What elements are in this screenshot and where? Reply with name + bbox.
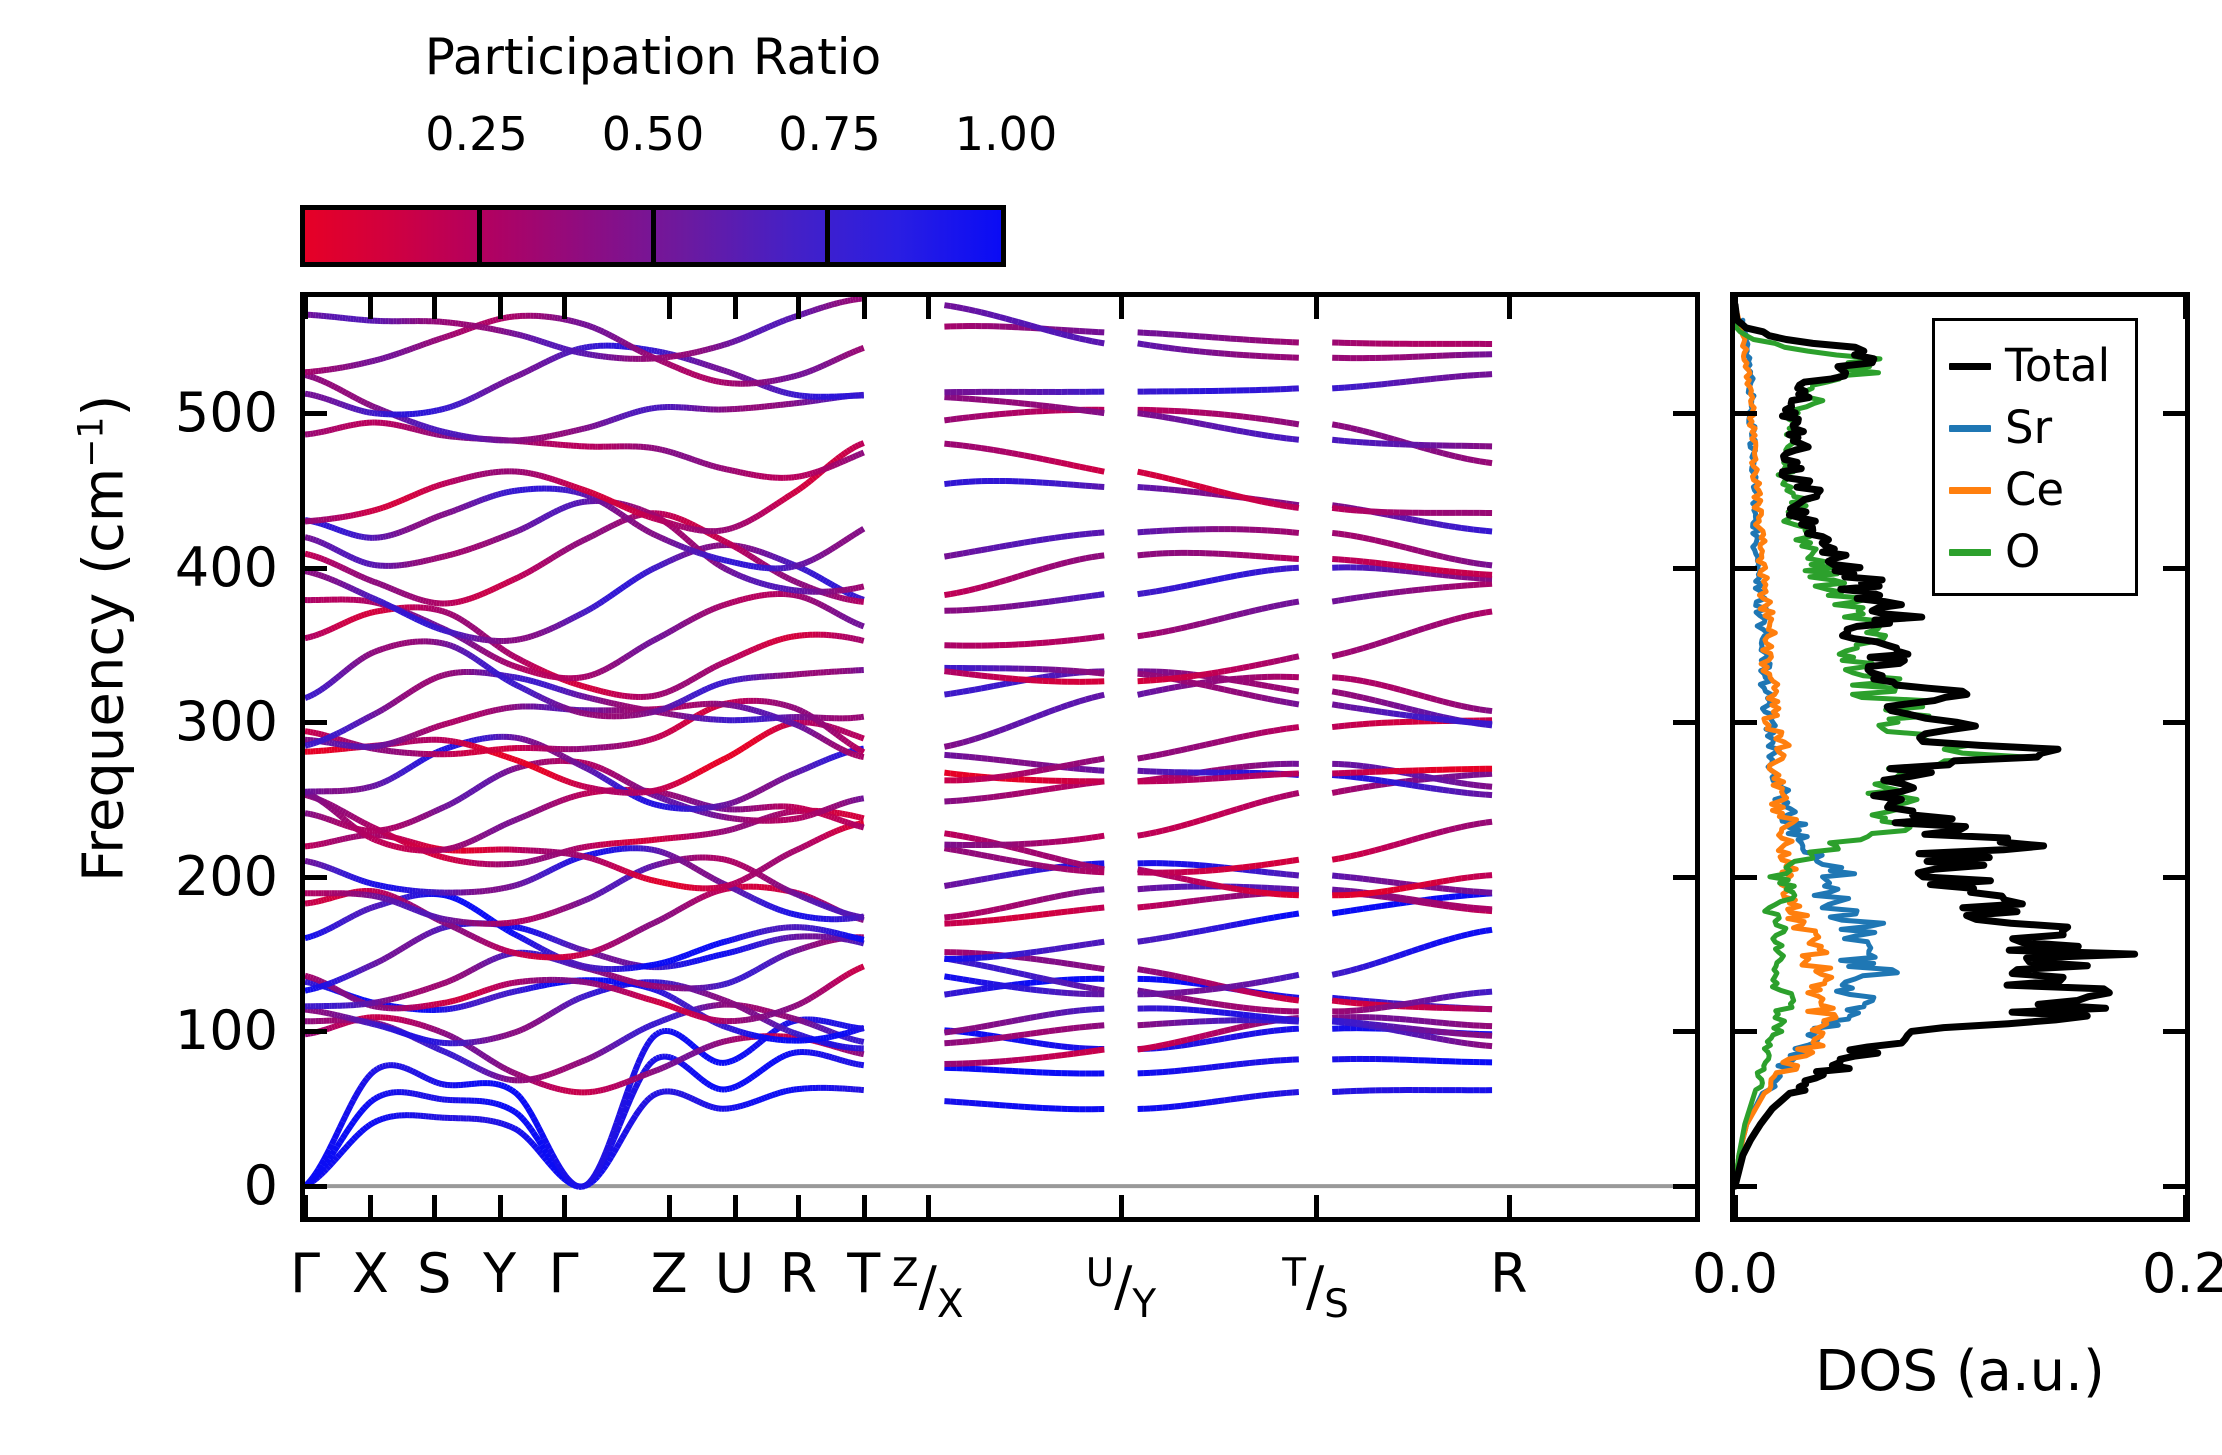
kpath-tick-mark bbox=[1119, 1195, 1124, 1217]
frequency-tick-400: 400 bbox=[175, 539, 278, 597]
frequency-tick-mark bbox=[1735, 1029, 1757, 1034]
dos-axis-tick-labels: 0.00.2 bbox=[1730, 1243, 2190, 1323]
kpath-tick-S: S bbox=[417, 1243, 451, 1305]
colorbar-tick-0.25: 0.25 bbox=[425, 108, 527, 160]
frequency-tick-mark bbox=[305, 1029, 327, 1034]
kpath-tick-Γ: Γ bbox=[290, 1243, 320, 1305]
frequency-tick-mark bbox=[2163, 411, 2185, 416]
kpath-tick-mark bbox=[1314, 1195, 1319, 1217]
frequency-tick-mark bbox=[1673, 411, 1695, 416]
frequency-tick-300: 300 bbox=[175, 693, 278, 751]
band-plot-area bbox=[305, 297, 1695, 1217]
frequency-tick-mark bbox=[305, 720, 327, 725]
figure-root: Participation Ratio 0.250.500.751.00 010… bbox=[0, 0, 2222, 1455]
frequency-tick-mark bbox=[1735, 411, 1757, 416]
band-curves-group bbox=[305, 298, 1492, 1186]
frequency-tick-mark bbox=[2163, 566, 2185, 571]
frequency-tick-500: 500 bbox=[175, 384, 278, 442]
colorbar-tick-0.50: 0.50 bbox=[602, 108, 704, 160]
frequency-tick-0: 0 bbox=[244, 1157, 278, 1215]
band-structure-curves bbox=[305, 297, 1695, 1217]
dos-tick-0.2: 0.2 bbox=[2142, 1243, 2222, 1305]
kpath-tick-U: U bbox=[715, 1243, 755, 1305]
kpath-tick-mark bbox=[562, 297, 567, 319]
frequency-tick-mark bbox=[1673, 1029, 1695, 1034]
ylabel-tail: ) bbox=[71, 395, 136, 417]
kpath-tick-mark bbox=[368, 1195, 373, 1217]
dos-tick-0.0: 0.0 bbox=[1692, 1243, 1778, 1305]
kpath-tick-mark bbox=[862, 1195, 867, 1217]
kpath-tick-mark bbox=[432, 297, 437, 319]
kpath-tick-mark bbox=[498, 1195, 503, 1217]
frequency-tick-mark bbox=[305, 875, 327, 880]
kpath-tick-mark bbox=[432, 1195, 437, 1217]
kpath-tick-mark bbox=[1507, 1195, 1512, 1217]
colorbar-tick-mark bbox=[477, 210, 482, 262]
legend-label: Ce bbox=[2005, 465, 2064, 515]
kpath-tick-labels: ΓXSYΓZURTZ/XU/YT/SR bbox=[300, 1243, 1700, 1333]
kpath-tick-Z-X: Z/X bbox=[892, 1243, 963, 1336]
kpath-tick-mark bbox=[303, 297, 308, 319]
dos-axis-label: DOS (a.u.) bbox=[1700, 1340, 2220, 1404]
kpath-tick-mark bbox=[667, 297, 672, 319]
kpath-tick-mark bbox=[733, 297, 738, 319]
legend-label: Sr bbox=[2005, 403, 2052, 453]
legend-label: Total bbox=[2005, 341, 2110, 391]
colorbar-tick-mark bbox=[651, 210, 656, 262]
colorbar bbox=[300, 205, 1006, 267]
frequency-axis-label: Frequency (cm−1) bbox=[60, 318, 137, 958]
kpath-tick-mark bbox=[303, 1195, 308, 1217]
dos-legend: TotalSrCeO bbox=[1932, 318, 2138, 596]
frequency-tick-mark bbox=[1735, 566, 1757, 571]
legend-label: O bbox=[2005, 527, 2040, 577]
kpath-tick-mark bbox=[562, 1195, 567, 1217]
kpath-tick-Γ: Γ bbox=[548, 1243, 578, 1305]
kpath-tick-mark bbox=[926, 1195, 931, 1217]
dos-tick-mark bbox=[1733, 297, 1738, 319]
frequency-tick-mark bbox=[2163, 1029, 2185, 1034]
frequency-tick-mark bbox=[1673, 875, 1695, 880]
kpath-tick-Y: Y bbox=[483, 1243, 516, 1305]
kpath-tick-U-Y: U/Y bbox=[1086, 1243, 1156, 1336]
frequency-axis-tick-labels: 0100200300400500 bbox=[0, 292, 278, 1222]
legend-entry-total[interactable]: Total bbox=[1935, 335, 2135, 397]
frequency-tick-mark bbox=[2163, 720, 2185, 725]
kpath-tick-mark bbox=[796, 297, 801, 319]
legend-entry-o[interactable]: O bbox=[1935, 521, 2135, 583]
legend-line-icon bbox=[1949, 363, 1991, 370]
band-structure-panel bbox=[300, 292, 1700, 1222]
frequency-tick-mark bbox=[1673, 566, 1695, 571]
kpath-tick-T: T bbox=[847, 1243, 880, 1305]
kpath-tick-R: R bbox=[1490, 1243, 1528, 1305]
ylabel-main: Frequency (cm bbox=[71, 468, 136, 882]
colorbar-tick-0.75: 0.75 bbox=[778, 108, 880, 160]
frequency-tick-mark bbox=[2163, 875, 2185, 880]
frequency-tick-100: 100 bbox=[175, 1002, 278, 1060]
frequency-tick-mark bbox=[305, 1184, 327, 1189]
kpath-tick-mark bbox=[926, 297, 931, 319]
dos-tick-mark bbox=[2183, 297, 2188, 319]
kpath-tick-R: R bbox=[780, 1243, 818, 1305]
kpath-tick-Z: Z bbox=[651, 1243, 688, 1305]
kpath-tick-mark bbox=[733, 1195, 738, 1217]
colorbar-tick-labels: 0.250.500.751.00 bbox=[300, 108, 1006, 164]
colorbar-tick-1.00: 1.00 bbox=[955, 108, 1057, 160]
frequency-tick-mark bbox=[1673, 720, 1695, 725]
kpath-tick-mark bbox=[1119, 297, 1124, 319]
kpath-tick-mark bbox=[667, 1195, 672, 1217]
dos-tick-mark bbox=[1733, 1195, 1738, 1217]
legend-line-icon bbox=[1949, 549, 1991, 556]
kpath-tick-T-S: T/S bbox=[1282, 1243, 1349, 1336]
frequency-tick-mark bbox=[1673, 1184, 1695, 1189]
frequency-tick-mark bbox=[1735, 875, 1757, 880]
frequency-tick-mark bbox=[1735, 720, 1757, 725]
colorbar-title: Participation Ratio bbox=[300, 28, 1006, 86]
frequency-tick-200: 200 bbox=[175, 848, 278, 906]
kpath-tick-mark bbox=[1507, 297, 1512, 319]
kpath-tick-X: X bbox=[352, 1243, 389, 1305]
ylabel-exponent: −1 bbox=[72, 417, 112, 468]
kpath-tick-mark bbox=[1314, 297, 1319, 319]
dos-tick-mark bbox=[2183, 1195, 2188, 1217]
frequency-tick-mark bbox=[305, 566, 327, 571]
kpath-tick-mark bbox=[498, 297, 503, 319]
legend-entry-sr[interactable]: Sr bbox=[1935, 397, 2135, 459]
frequency-tick-mark bbox=[305, 411, 327, 416]
frequency-tick-mark bbox=[2163, 1184, 2185, 1189]
legend-entry-ce[interactable]: Ce bbox=[1935, 459, 2135, 521]
frequency-tick-mark bbox=[1735, 1184, 1757, 1189]
kpath-tick-mark bbox=[796, 1195, 801, 1217]
legend-line-icon bbox=[1949, 487, 1991, 494]
colorbar-tick-mark bbox=[825, 210, 830, 262]
kpath-tick-mark bbox=[862, 297, 867, 319]
kpath-tick-mark bbox=[368, 297, 373, 319]
legend-line-icon bbox=[1949, 425, 1991, 432]
